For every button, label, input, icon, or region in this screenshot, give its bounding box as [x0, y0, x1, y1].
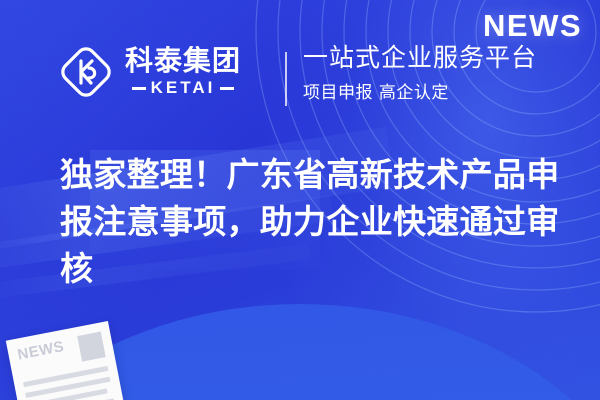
logo-company-name-en: KETAI [151, 78, 216, 98]
slogan-primary: 一站式企业服务平台 [303, 44, 537, 73]
newspaper-image-placeholder [77, 332, 106, 362]
ketai-diamond-k-icon [58, 44, 114, 100]
logo-company-name-cn: 科泰集团 [125, 46, 241, 75]
newspaper-text-lines [23, 366, 117, 400]
newspaper-title: NEWS [16, 337, 73, 362]
slogan-secondary: 项目申报 高企认定 [303, 78, 537, 103]
banner-header: NEWS 科泰集团 KETAI 一站式企业服务 [0, 0, 600, 140]
slogan-block: 一站式企业服务平台 项目申报 高企认定 [303, 44, 537, 103]
news-wordmark: NEWS [483, 8, 582, 44]
logo-rule-left [132, 87, 146, 90]
page-title: 独家整理！广东省高新技术产品申报注意事项，助力企业快速通过审核 [60, 152, 565, 293]
company-logo[interactable]: 科泰集团 KETAI [58, 44, 241, 100]
vertical-divider-icon [285, 52, 287, 106]
news-banner: NEWS 科泰集团 KETAI 一站式企业服务 [0, 0, 600, 400]
logo-rule-right [220, 87, 234, 90]
